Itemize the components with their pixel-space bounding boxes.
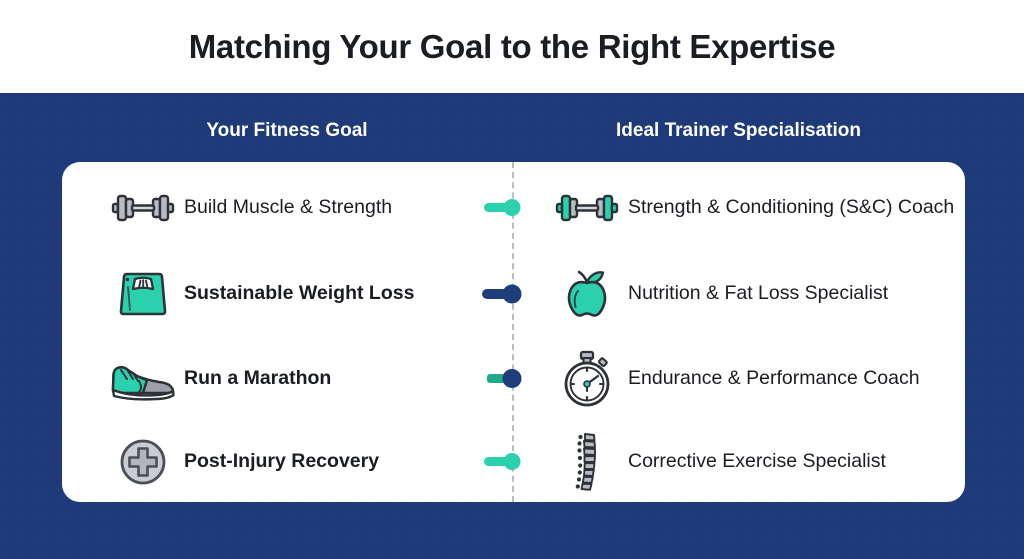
goal-cell: Run a Marathon bbox=[62, 336, 512, 421]
comparison-card: Build Muscle & Strength bbox=[62, 162, 965, 502]
goal-label: Run a Marathon bbox=[184, 367, 331, 390]
infographic-root: Matching Your Goal to the Right Expertis… bbox=[0, 0, 1024, 559]
specialisation-label: Corrective Exercise Specialist bbox=[628, 450, 886, 473]
column-divider bbox=[512, 162, 514, 502]
specialisation-cell: Strength & Conditioning (S&C) Coach bbox=[512, 165, 965, 250]
goal-label: Build Muscle & Strength bbox=[184, 196, 392, 219]
specialisation-cell: Nutrition & Fat Loss Specialist bbox=[512, 251, 965, 336]
goal-cell: Build Muscle & Strength bbox=[62, 165, 512, 250]
page-title: Matching Your Goal to the Right Expertis… bbox=[189, 28, 836, 66]
stopwatch-icon bbox=[550, 346, 624, 412]
weight-scale-icon bbox=[106, 261, 180, 327]
running-shoe-icon bbox=[106, 346, 180, 412]
dumbbell-teal-icon bbox=[550, 175, 624, 241]
goal-label: Post-Injury Recovery bbox=[184, 450, 379, 473]
dumbbell-gray-icon bbox=[106, 175, 180, 241]
specialisation-label: Strength & Conditioning (S&C) Coach bbox=[628, 196, 954, 219]
specialisation-label: Nutrition & Fat Loss Specialist bbox=[628, 282, 888, 305]
apple-icon bbox=[550, 261, 624, 327]
specialisation-cell: Endurance & Performance Coach bbox=[512, 336, 965, 421]
column-header-goal: Your Fitness Goal bbox=[62, 120, 512, 142]
title-bar: Matching Your Goal to the Right Expertis… bbox=[0, 0, 1024, 93]
column-header-specialisation: Ideal Trainer Specialisation bbox=[512, 120, 965, 142]
specialisation-label: Endurance & Performance Coach bbox=[628, 367, 920, 390]
specialisation-cell: Corrective Exercise Specialist bbox=[512, 419, 965, 504]
goal-label: Sustainable Weight Loss bbox=[184, 282, 414, 305]
goal-cell: Sustainable Weight Loss bbox=[62, 251, 512, 336]
goal-cell: Post-Injury Recovery bbox=[62, 419, 512, 504]
spine-icon bbox=[550, 429, 624, 495]
medical-cross-icon bbox=[106, 429, 180, 495]
